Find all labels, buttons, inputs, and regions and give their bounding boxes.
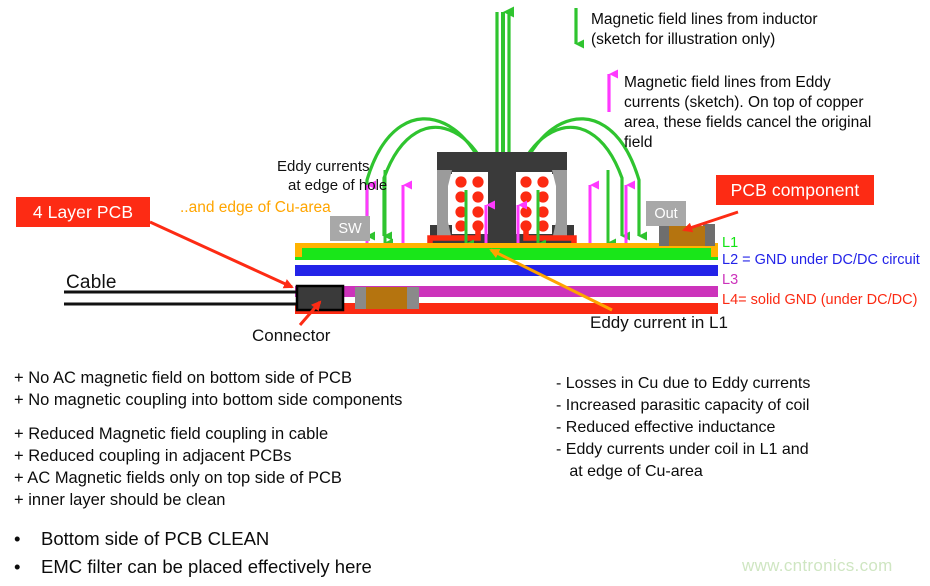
layer-label-l2: L2 = GND under DC/DC circuit <box>722 252 920 268</box>
pros-group1-line-2: + No magnetic coupling into bottom side … <box>14 389 402 412</box>
inductor-component <box>430 152 574 250</box>
legend-eddy-field-line-4: field <box>624 133 652 153</box>
pros-group2-line-4: + inner layer should be clean <box>14 489 225 512</box>
callout-pcb-component[interactable]: PCB component <box>716 175 874 205</box>
connector-body <box>297 286 343 310</box>
annotation-cable: Cable <box>66 272 117 294</box>
chip-label-out: Out <box>646 201 686 226</box>
bottom-side-component <box>355 287 419 309</box>
layer-label-l4: L4= solid GND (under DC/DC) <box>722 292 917 308</box>
cons-line-2: - Increased parasitic capacity of coil <box>556 395 809 417</box>
legend-eddy-field-line-3: area, these fields cancel the original <box>624 113 871 133</box>
annotation-eddy-cu-area: ..and edge of Cu-area <box>180 198 331 217</box>
layer-l2 <box>295 265 718 276</box>
top-side-component <box>659 224 715 246</box>
callout-leader-4layer-pcb <box>150 222 292 287</box>
annotation-eddy-hole-line-1: Eddy currents <box>277 158 370 177</box>
pros-group2-line-2: + Reduced coupling in adjacent PCBs <box>14 445 291 468</box>
legend-inductor-field-line-2: (sketch for illustration only) <box>591 30 775 50</box>
cons-line-5: at edge of Cu-area <box>556 461 703 483</box>
pros-group2-line-1: + Reduced Magnetic field coupling in cab… <box>14 423 328 446</box>
pros-summary-line-2: • EMC filter can be placed effectively h… <box>14 552 372 581</box>
cons-line-3: - Reduced effective inductance <box>556 417 775 439</box>
cons-line-4: - Eddy currents under coil in L1 and <box>556 439 809 461</box>
annotation-connector: Connector <box>252 326 330 346</box>
callout-4-layer-pcb[interactable]: 4 Layer PCB <box>16 197 150 227</box>
layer-label-l1: L1 <box>722 235 738 251</box>
legend-eddy-field-line-1: Magnetic field lines from Eddy <box>624 73 831 93</box>
cons-line-1: - Losses in Cu due to Eddy currents <box>556 373 810 395</box>
pros-summary-line-1: • Bottom side of PCB CLEAN <box>14 524 269 553</box>
pros-group2-line-3: + AC Magnetic fields only on top side of… <box>14 467 342 490</box>
annotation-eddy-hole-line-2: at edge of hole <box>288 177 387 196</box>
watermark: www.cntronics.com <box>742 556 893 576</box>
legend-eddy-field-line-2: currents (sketch). On top of copper <box>624 93 864 113</box>
legend-inductor-field-line-1: Magnetic field lines from inductor <box>591 10 818 30</box>
chip-label-sw: SW <box>330 216 370 241</box>
pros-group1-line-1: + No AC magnetic field on bottom side of… <box>14 367 352 390</box>
layer-label-l3: L3 <box>722 272 738 288</box>
annotation-eddy-current-l1: Eddy current in L1 <box>590 313 728 333</box>
